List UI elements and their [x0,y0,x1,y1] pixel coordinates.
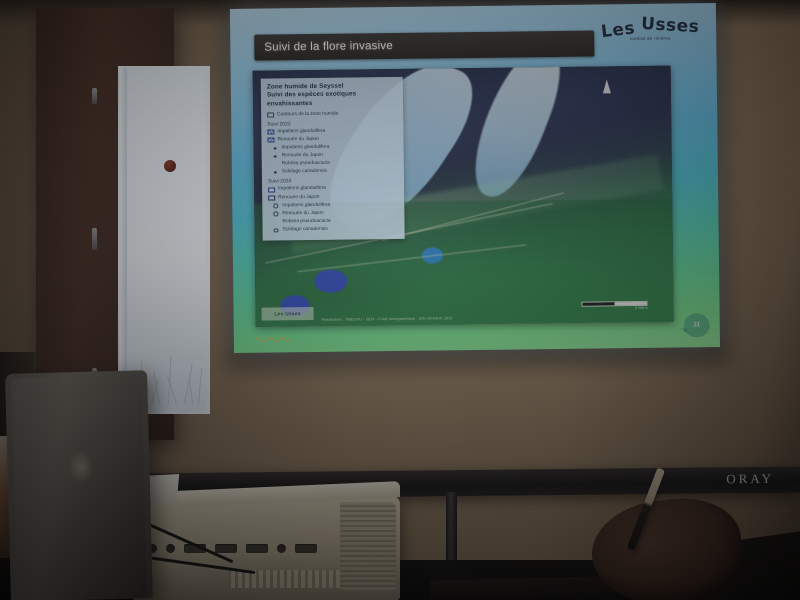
swatch-contour-icon [267,113,274,118]
les-usses-logo: Les Usses contrat de rivières [598,19,702,60]
legend-label: Solidago canadensis [283,226,328,234]
slide-title-bar: Suivi de la flore invasive [254,31,594,61]
north-arrow-icon [598,79,612,99]
legend-item: Solidago canadensis [269,225,399,234]
map-legend-panel: Zone humide de Seyssel Suivi des espèces… [261,77,405,241]
page-number-bubble: 31 [684,313,710,337]
decorative-wave-icon [256,334,302,343]
projector-port-vga [246,544,268,553]
legend-label: Solidago canadensis [282,168,327,176]
swatch-hatch-icon [267,130,274,135]
logo-wordmark: Les Usses [598,19,702,37]
legend-label: Renouée du Japon [282,152,323,160]
swatch-dot-icon [272,155,279,157]
legend-label: Renouée du Japon [277,136,318,144]
swatch-dot-hollow-icon [272,204,279,208]
red-object-outside [164,160,176,172]
legend-label: Impatiens glandulifera [277,128,325,136]
legend-label: Impatiens glandulifera [282,201,330,209]
door-handle-upper [92,88,97,104]
legend-label: Renouée du Japon [282,210,323,218]
logo-word-usses: Usses [641,16,700,36]
swatch-hatch-icon [267,138,274,143]
legend-label-contour: Contours de la zone humide [277,111,338,119]
swatch-outline-icon [268,195,275,200]
swatch-outline-icon [268,187,275,192]
legend-item: Solidago canadensis [268,167,398,176]
oray-brand-label: ORAY [726,471,774,487]
projector [132,496,400,600]
swatch-dot-icon [272,147,279,149]
projector-port-vga [295,544,317,553]
map-watermark-logo: Les Usses [262,307,314,321]
legend-title-line2: Suivi des espèces exotiques envahissante… [267,90,397,109]
legend-item-contour: Contours de la zone humide [267,110,397,119]
laptop-logo [67,450,94,485]
legend-label: Impatiens glandulifera [282,144,330,152]
legend-label: Robinia pseudoacacia [282,218,330,226]
projector-port-row [148,540,378,556]
swatch-dot-hollow-icon [272,220,279,224]
page-number: 31 [693,322,700,328]
slide-title: Suivi de la flore invasive [264,40,393,54]
swatch-dot-hollow-icon [273,228,280,232]
map-watermark-text: Les Usses [274,311,301,317]
legend-label: Robinia pseudoacacia [282,160,330,168]
door-handle-middle [92,228,97,250]
projector-port-vga [215,544,237,553]
swatch-dot-icon [272,172,279,174]
swatch-dot-hollow-icon [272,212,279,216]
projector-port-round [166,544,175,553]
legend-label: Impatiens glandulifera [278,185,326,193]
map-scale-bar: 0 500 m [581,301,647,312]
photo-scene: Suivi de la flore invasive Les Usses con… [0,0,800,600]
projected-slide: Suivi de la flore invasive Les Usses con… [230,3,720,353]
laptop-lid [5,370,153,600]
projection-screen: Suivi de la flore invasive Les Usses con… [230,3,720,361]
projector-port-round [277,544,286,553]
logo-word-les: Les [600,20,636,41]
pond-a [314,269,348,292]
legend-label: Renouée du Japon [278,193,319,201]
scale-bar-label: 0 500 m [582,306,648,312]
swatch-dot-icon [272,163,279,165]
